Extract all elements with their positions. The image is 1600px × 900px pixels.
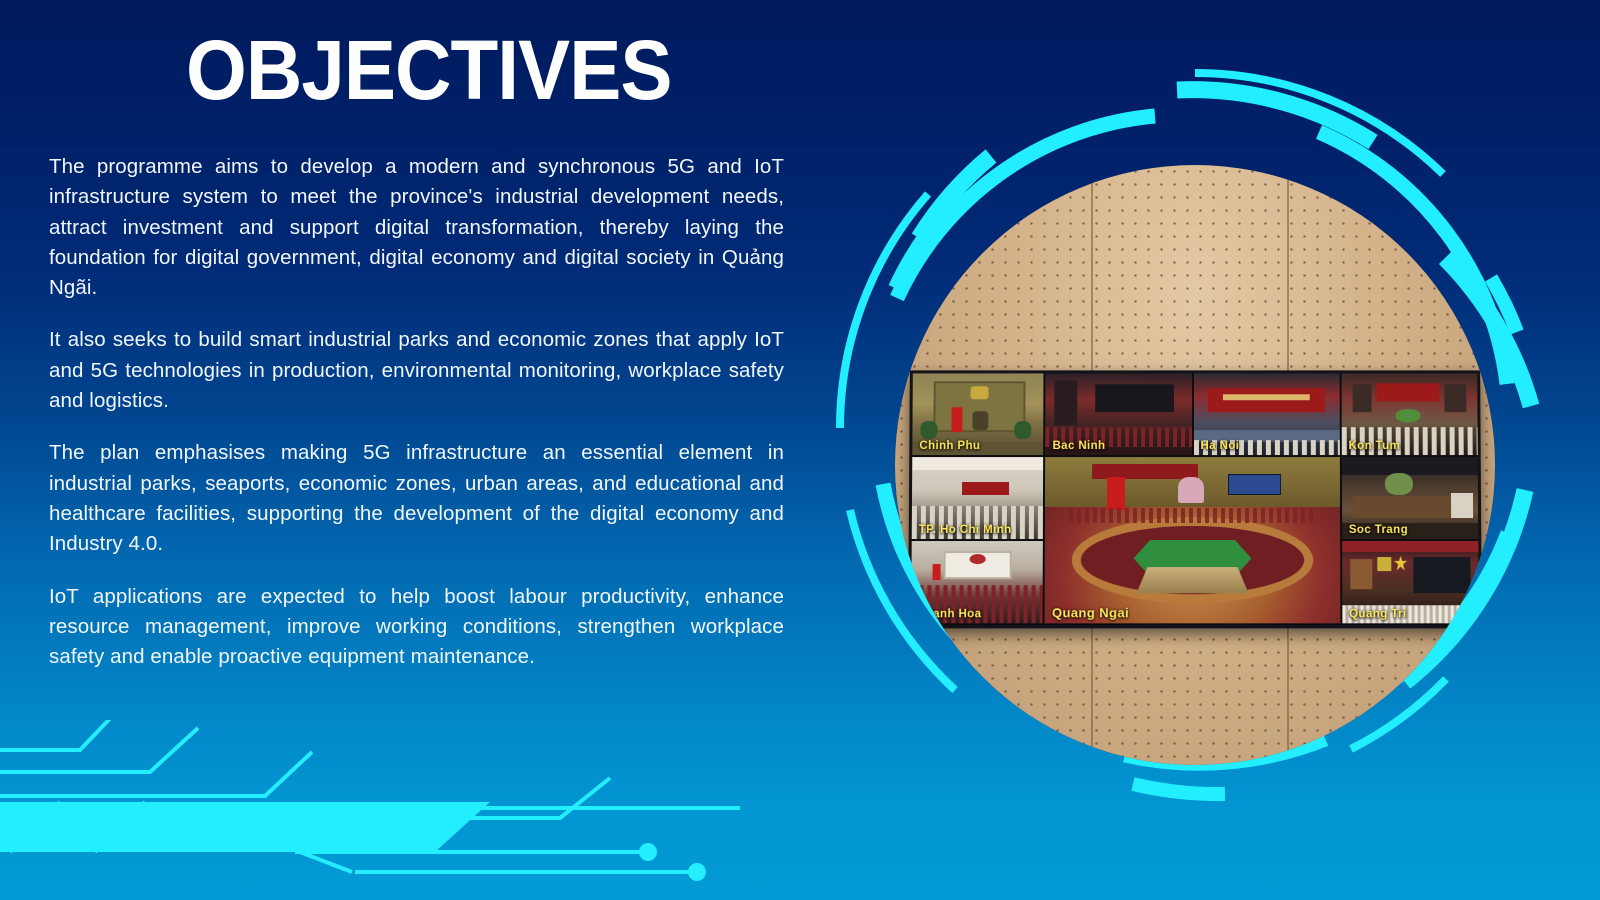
video-tile: TP. Ho Chi Minh — [912, 457, 1044, 539]
objective-paragraph-1: The programme aims to develop a modern a… — [49, 152, 784, 303]
objective-paragraph-2: It also seeks to build smart industrial … — [49, 325, 784, 416]
video-tile: Quang Tri — [1342, 541, 1479, 623]
video-tile: Ha Noi — [1194, 373, 1340, 455]
video-tile: Kon Tum — [1341, 373, 1477, 455]
video-tile: Thanh Hoa — [911, 541, 1043, 623]
tile-label: Bac Ninh — [1052, 440, 1105, 452]
tile-label: Quang Tri — [1349, 608, 1406, 620]
video-wall-grid: Chinh Phu Bac Ninh Ha Noi — [908, 370, 1482, 628]
tile-label: Kon Tum — [1348, 440, 1400, 452]
video-tile: Bac Ninh — [1045, 373, 1191, 455]
tile-label: Quang Ngai — [1052, 605, 1129, 620]
hero-graphic: Chinh Phu Bac Ninh Ha Noi — [820, 50, 1600, 860]
video-tile-main: Quang Ngai — [1045, 457, 1340, 623]
video-tile: Chinh Phu — [912, 373, 1043, 455]
tile-label: Thanh Hoa — [918, 608, 981, 620]
objective-paragraph-3: The plan emphasises making 5G infrastruc… — [49, 438, 784, 559]
page-title: OBJECTIVES — [186, 28, 672, 112]
objective-paragraph-4: IoT applications are expected to help bo… — [49, 582, 784, 673]
left-content-pane: OBJECTIVES The programme aims to develop… — [0, 0, 820, 900]
tile-label: Chinh Phu — [919, 440, 980, 452]
tile-label: Ha Noi — [1201, 440, 1240, 452]
tile-label: TP. Ho Chi Minh — [919, 524, 1012, 536]
tile-label: Soc Trang — [1349, 524, 1408, 536]
body-copy: The programme aims to develop a modern a… — [49, 152, 784, 672]
video-conference-photo: Chinh Phu Bac Ninh Ha Noi — [895, 165, 1495, 765]
video-tile: Soc Trang — [1342, 457, 1479, 539]
